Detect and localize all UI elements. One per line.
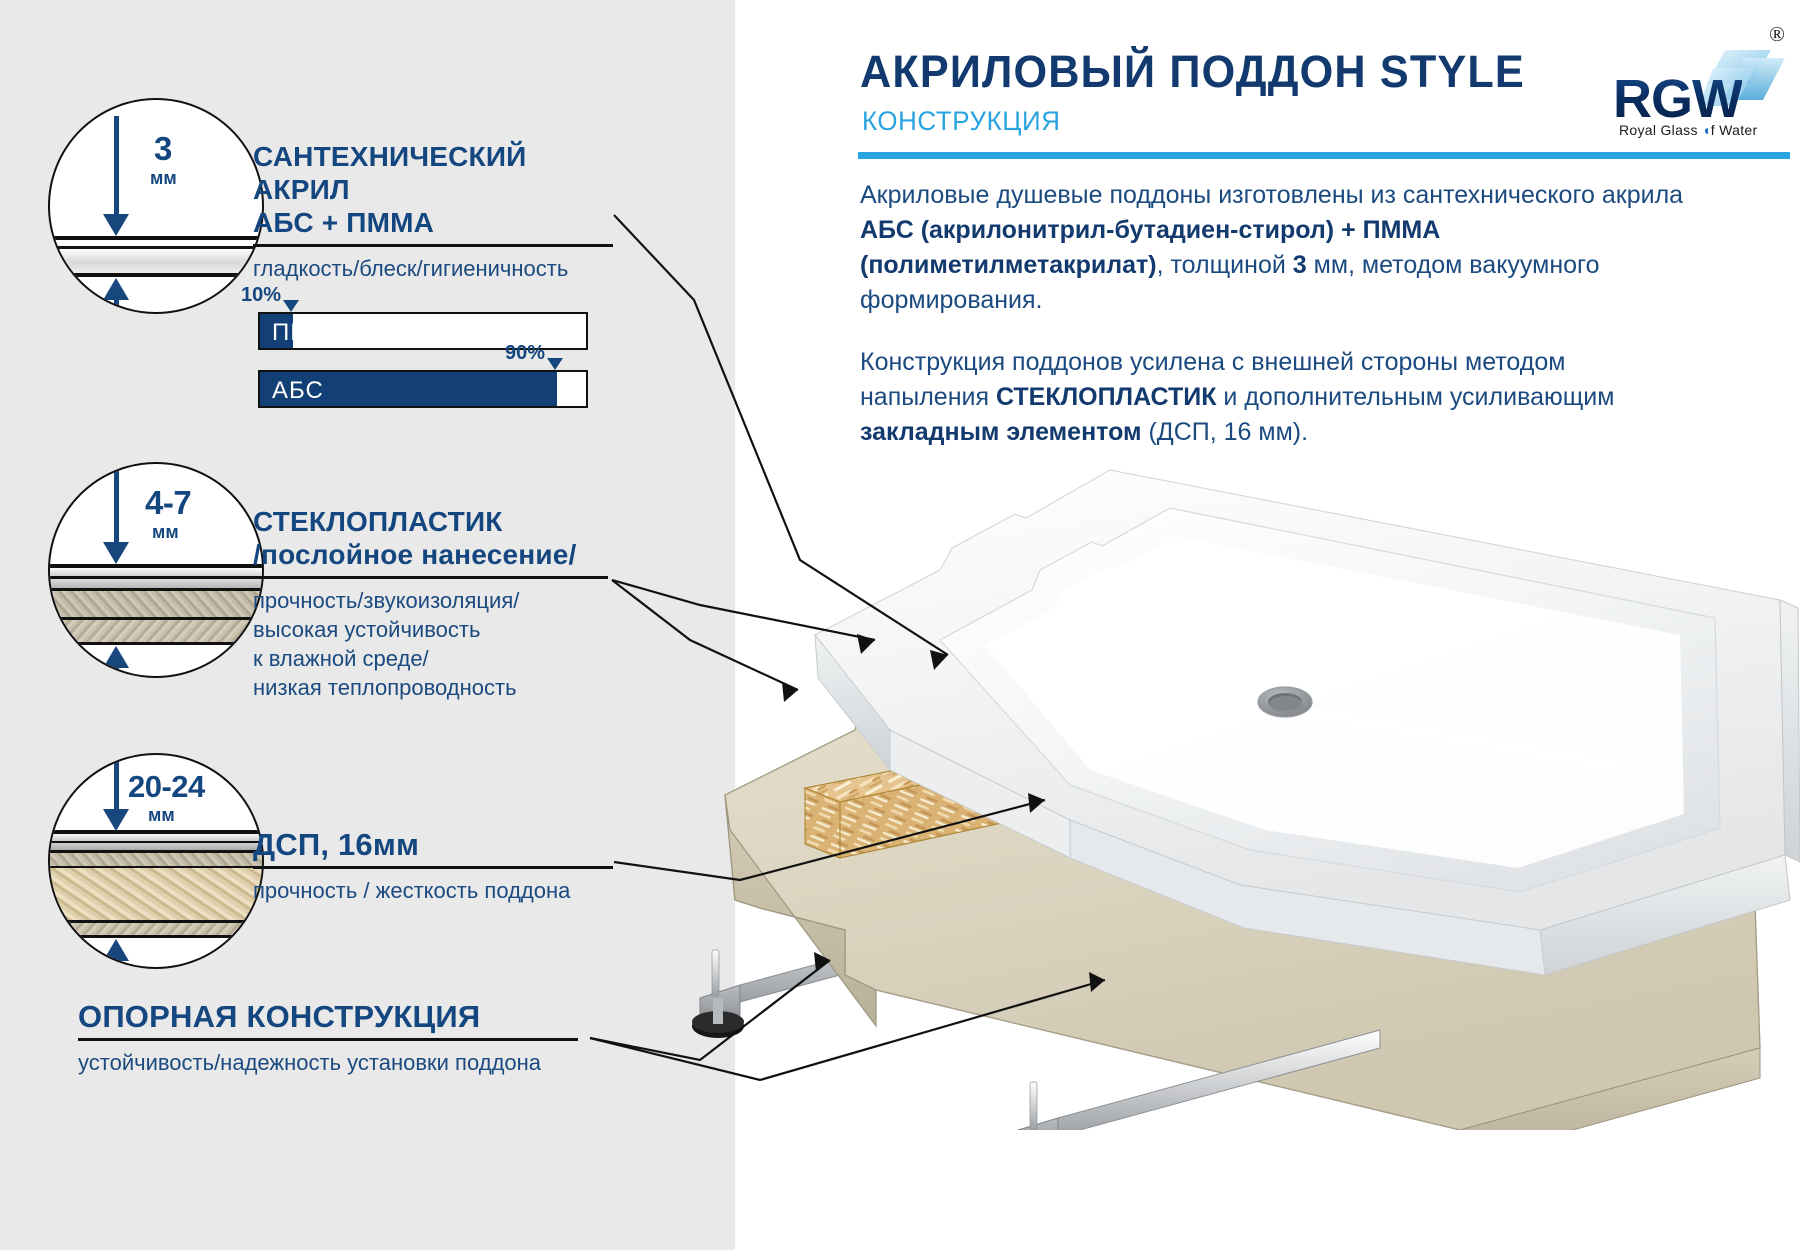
bar-value-label-abs: 90% <box>505 342 545 365</box>
logo-tagline-suffix: f Water <box>1711 122 1758 138</box>
callout-text-chipboard: ДСП, 16мм прочность / жесткость поддона <box>253 828 613 905</box>
callout-desc-fiberglass: прочность/звукоизоляция/ высокая устойчи… <box>253 586 608 702</box>
thickness-arrow-up-icon <box>103 278 129 314</box>
dimension-unit-fiberglass: мм <box>152 522 179 543</box>
bar-category-label-abs: АБС <box>272 377 324 405</box>
bar-value-label-pmma: 10% <box>241 284 281 307</box>
water-drop-icon: ◖ <box>1702 122 1711 138</box>
callout-title-chipboard: ДСП, 16мм <box>253 827 419 862</box>
callout-title-fiberglass-line1: СТЕКЛОПЛАСТИК <box>253 506 503 537</box>
bar-caret-abs-icon <box>547 358 563 370</box>
callout-desc-support: устойчивость/надежность установки поддон… <box>78 1048 578 1077</box>
callout-desc-acrylic: гладкость/блеск/гигиеничность <box>253 254 613 283</box>
drain-hole <box>1258 687 1312 717</box>
callout-divider-chipboard <box>253 866 613 869</box>
callout-text-support: ОПОРНАЯ КОНСТРУКЦИЯ устойчивость/надежно… <box>78 1000 578 1077</box>
thickness-arrow-down-icon <box>103 753 129 831</box>
dimension-value-acrylic: 3 <box>154 130 172 168</box>
logo-tagline: Royal Glass ◖f Water <box>1619 122 1757 138</box>
callout-circle-acrylic: 3 мм <box>48 98 264 314</box>
thickness-arrow-down-icon <box>103 116 129 236</box>
callout-text-acrylic: САНТЕХНИЧЕСКИЙ АКРИЛ АБС + ПММА гладкост… <box>253 140 613 283</box>
logo-wordmark: RGW <box>1613 68 1742 130</box>
bar-caret-pmma-icon <box>283 300 299 312</box>
header-divider <box>858 152 1790 159</box>
callout-divider-acrylic <box>253 244 613 247</box>
callout-title-acrylic-line1: САНТЕХНИЧЕСКИЙ АКРИЛ <box>253 141 526 205</box>
dimension-value-fiberglass: 4-7 <box>145 484 191 522</box>
callout-divider-fiberglass <box>253 576 608 579</box>
dimension-unit-chipboard: мм <box>148 805 175 826</box>
intro-paragraph-1: Акриловые душевые поддоны изготовлены из… <box>860 178 1700 318</box>
rgw-logo: ® RGW Royal Glass ◖f Water <box>1613 22 1788 140</box>
callout-title-acrylic-line2: АБС + ПММА <box>253 207 434 238</box>
thickness-arrow-up-icon <box>103 646 129 678</box>
bar-row-abs: 90% АБС <box>258 370 588 408</box>
dimension-unit-acrylic: мм <box>150 168 177 189</box>
callout-text-fiberglass: СТЕКЛОПЛАСТИК /послойное нанесение/ проч… <box>253 505 608 702</box>
thickness-arrow-up-icon <box>103 939 129 969</box>
callout-title-support: ОПОРНАЯ КОНСТРУКЦИЯ <box>78 999 480 1034</box>
page-title: АКРИЛОВЫЙ ПОДДОН STYLE <box>860 46 1525 98</box>
callout-circle-chipboard: 20-24 мм <box>48 753 264 969</box>
composition-bar-chart: 10% ПММА 90% АБС <box>258 312 588 428</box>
callout-circle-fiberglass: 4-7 мм <box>48 462 264 678</box>
callout-divider-support <box>78 1038 578 1041</box>
thickness-arrow-down-icon <box>103 462 129 564</box>
callout-desc-chipboard: прочность / жесткость поддона <box>253 876 613 905</box>
page-subtitle: КОНСТРУКЦИЯ <box>862 106 1061 137</box>
bar-track-abs: АБС <box>258 370 588 408</box>
product-cutaway-illustration <box>640 430 1800 1130</box>
bar-category-label-pmma: ПММА <box>272 319 349 347</box>
callout-title-fiberglass-line2: /послойное нанесение/ <box>253 539 577 570</box>
logo-tagline-prefix: Royal Glass <box>1619 122 1702 138</box>
dimension-value-chipboard: 20-24 <box>128 769 205 805</box>
